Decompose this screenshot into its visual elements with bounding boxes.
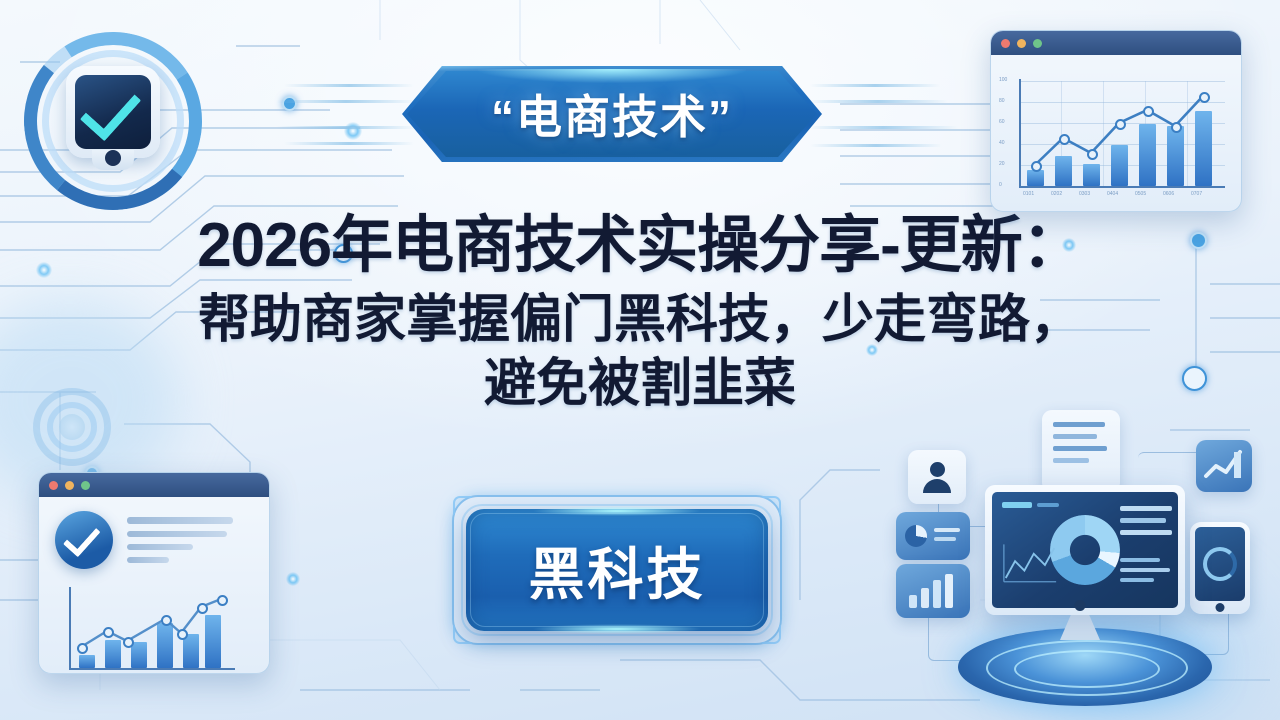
mini-bar: [933, 580, 941, 608]
document-icon: [1042, 410, 1120, 492]
trend-line: [1021, 81, 1225, 186]
text-line: [127, 544, 193, 550]
banner-line: [276, 126, 416, 129]
doc-line: [1053, 458, 1089, 463]
monitor-neck: [1060, 614, 1100, 640]
pie-label-line: [934, 528, 960, 532]
trend-up-icon: [1196, 440, 1252, 492]
window-titlebar: [39, 473, 269, 497]
x-axis: [69, 668, 235, 670]
trend-glyph: [1196, 440, 1252, 492]
cta-label: 黑科技: [466, 509, 768, 631]
headline-line-1: 2026年电商技术实操分享-更新：: [0, 215, 1280, 277]
user-icon: [908, 450, 966, 504]
phone-screen: [1195, 527, 1245, 601]
mini-bar: [909, 595, 917, 608]
maximize-icon[interactable]: [81, 481, 90, 490]
analytics-window[interactable]: 100 80 60 40 20 0: [990, 30, 1242, 212]
tech-circle-decoration: [33, 388, 111, 466]
screen-line: [1120, 568, 1170, 572]
monitor-screen: [992, 492, 1178, 608]
data-point: [1031, 161, 1042, 172]
page-title: 2026年电商技术实操分享-更新： 帮助商家掌握偏门黑科技，少走弯路， 避免被割…: [0, 215, 1280, 410]
text-line: [127, 531, 227, 537]
minimize-icon[interactable]: [1017, 39, 1026, 48]
data-point: [1059, 134, 1070, 145]
phone-home-button: [1216, 603, 1225, 612]
screen-line: [1037, 503, 1059, 507]
headline-line-2: 帮助商家掌握偏门黑科技，少走弯路，: [0, 294, 1280, 346]
report-body: [39, 497, 269, 673]
device-screen: [75, 75, 151, 149]
screen-line: [1120, 578, 1154, 582]
x-tick: 0404: [1107, 191, 1118, 197]
x-tick: 0505: [1135, 191, 1146, 197]
screen-line: [1120, 506, 1172, 511]
y-tick: 80: [999, 98, 1005, 104]
doc-line: [1053, 446, 1107, 451]
data-point: [197, 603, 208, 614]
doc-line: [1053, 434, 1097, 439]
monitor-indicator: [1075, 600, 1086, 611]
y-tick: 40: [999, 140, 1005, 146]
banner-line: [810, 144, 942, 147]
data-point: [1199, 92, 1210, 103]
monitor-icon: [985, 485, 1185, 615]
window-titlebar: [991, 31, 1241, 55]
screen-line: [1120, 558, 1160, 562]
data-point: [77, 643, 88, 654]
smartphone-icon: [1190, 522, 1250, 614]
x-tick: 0606: [1163, 191, 1174, 197]
data-point: [1115, 119, 1126, 130]
data-point: [1171, 122, 1182, 133]
screen-line: [1120, 530, 1172, 535]
y-tick: 20: [999, 161, 1005, 167]
maximize-icon[interactable]: [1033, 39, 1042, 48]
check-icon: [79, 78, 140, 141]
banner-line: [808, 100, 948, 103]
donut-chart-icon: [1050, 515, 1120, 585]
user-head: [930, 462, 945, 477]
x-tick: 0303: [1079, 191, 1090, 197]
close-icon[interactable]: [49, 481, 58, 490]
verified-report-window[interactable]: [38, 472, 270, 674]
data-point: [123, 637, 134, 648]
screen-line: [1120, 518, 1166, 523]
bar-chart-icon: [896, 564, 970, 618]
x-tick: 0101: [1023, 191, 1034, 197]
pie-glyph: [905, 525, 927, 547]
check-icon: [63, 519, 101, 558]
y-tick: 0: [999, 182, 1002, 188]
circuit-node: [282, 96, 297, 111]
tech-core: [59, 414, 85, 440]
data-point: [217, 595, 228, 606]
mini-bar: [945, 574, 953, 608]
banner: “电商技术”: [402, 66, 822, 162]
device-body: [66, 66, 160, 158]
data-point: [1143, 106, 1154, 117]
data-point: [103, 627, 114, 638]
poster-canvas: “电商技术” 2026年电商技术实操分享-更新： 帮助商家掌握偏门黑科技，少走弯…: [0, 0, 1280, 720]
y-tick: 100: [999, 77, 1007, 83]
banner-line: [810, 84, 940, 87]
verified-badge: [55, 511, 113, 569]
y-tick: 60: [999, 119, 1005, 125]
cta-button[interactable]: 黑科技: [452, 495, 782, 645]
glow-dot: [344, 122, 362, 140]
user-body: [923, 479, 951, 493]
x-axis: [1019, 186, 1225, 188]
analytics-chart: 100 80 60 40 20 0: [991, 55, 1241, 211]
pie-label-line: [934, 537, 956, 541]
mini-bar: [921, 588, 929, 608]
banner-line: [808, 126, 958, 129]
screen-sparkline: [1002, 540, 1058, 588]
trend-line: [71, 589, 235, 668]
minimize-icon[interactable]: [65, 481, 74, 490]
banner-line: [284, 142, 414, 145]
text-line: [127, 517, 233, 524]
banner-line: [284, 84, 414, 87]
close-icon[interactable]: [1001, 39, 1010, 48]
data-point: [177, 629, 188, 640]
x-tick: 0202: [1051, 191, 1062, 197]
phone-donut-icon: [1203, 547, 1237, 581]
screen-line: [1002, 502, 1032, 508]
verified-device-icon: [20, 28, 206, 214]
data-point: [161, 615, 172, 626]
banner-line: [276, 100, 416, 103]
device-cluster: [880, 400, 1280, 720]
glow-dot: [286, 572, 300, 586]
x-tick: 0707: [1191, 191, 1202, 197]
pedestal-ring: [1014, 650, 1160, 688]
banner-label: “电商技术”: [402, 66, 822, 162]
text-line: [127, 557, 169, 563]
cta-surface[interactable]: 黑科技: [466, 509, 768, 631]
device-home-button: [105, 150, 121, 166]
doc-line: [1053, 422, 1105, 427]
data-point: [1087, 149, 1098, 160]
pie-chart-icon: [896, 512, 970, 560]
